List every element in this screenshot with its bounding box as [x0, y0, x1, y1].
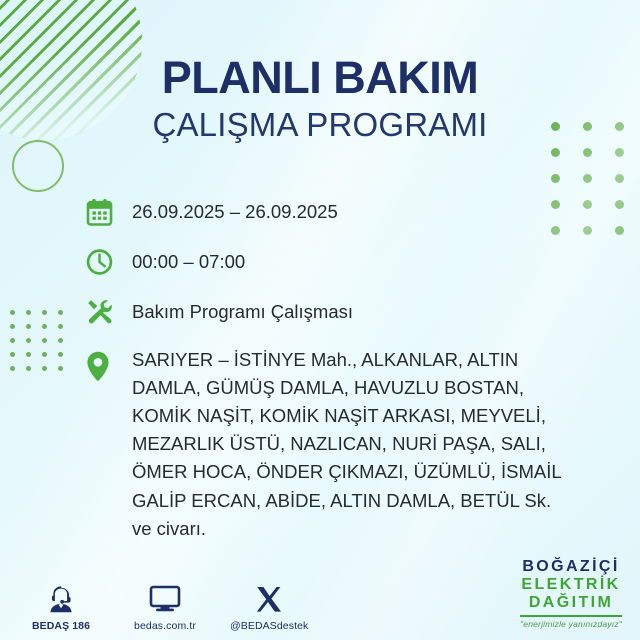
dot: [615, 174, 624, 183]
dot: [58, 310, 63, 315]
circle-outline-decoration: [12, 140, 64, 192]
tools-icon: [86, 296, 132, 332]
page-title: PLANLI BAKIM: [0, 54, 640, 102]
dot: [42, 338, 47, 343]
dot: [42, 366, 47, 371]
contact-label: BEDAŞ 186: [22, 620, 100, 632]
dot: [583, 174, 592, 183]
dot-grid-left-decoration: [10, 310, 74, 380]
contact-list: BEDAŞ 186 bedas.com.tr: [22, 583, 308, 632]
info-row-date: 26.09.2025 – 26.09.2025: [86, 196, 586, 232]
contact-website[interactable]: bedas.com.tr: [126, 583, 204, 632]
contact-label: bedas.com.tr: [126, 620, 204, 632]
dot: [615, 148, 624, 157]
calendar-icon: [86, 196, 132, 232]
brand-line-2: ELEKTRİK: [520, 577, 622, 593]
contact-call-center[interactable]: BEDAŞ 186: [22, 583, 100, 632]
time-range-text: 00:00 – 07:00: [132, 246, 245, 275]
info-row-time: 00:00 – 07:00: [86, 246, 586, 282]
dot: [551, 174, 560, 183]
dot: [10, 366, 15, 371]
location-text: SARIYER – İSTİNYE Mah., ALKANLAR, ALTIN …: [132, 346, 562, 543]
brand-line-1: BOĞAZİÇİ: [520, 559, 622, 575]
dot: [42, 352, 47, 357]
dot: [42, 324, 47, 329]
dot: [10, 352, 15, 357]
dot: [58, 352, 63, 357]
dot: [58, 366, 63, 371]
x-twitter-icon: [230, 583, 308, 615]
brand-tagline: "enerjimizle yanınızdayız": [520, 620, 622, 629]
dot: [26, 366, 31, 371]
support-agent-icon: [22, 583, 100, 615]
dot: [26, 324, 31, 329]
location-pin-icon: [86, 346, 132, 385]
dot: [615, 200, 624, 209]
work-type-text: Bakım Programı Çalışması: [132, 296, 353, 325]
dot: [551, 148, 560, 157]
dot: [615, 226, 624, 235]
dot: [10, 338, 15, 343]
dot: [26, 338, 31, 343]
info-row-work-type: Bakım Programı Çalışması: [86, 296, 586, 332]
poster-header: PLANLI BAKIM ÇALIŞMA PROGRAMI: [0, 54, 640, 144]
info-row-location: SARIYER – İSTİNYE Mah., ALKANLAR, ALTIN …: [86, 346, 586, 543]
dot: [26, 310, 31, 315]
contact-social-x[interactable]: @BEDASdestek: [230, 583, 308, 632]
poster-footer: BEDAŞ 186 bedas.com.tr: [0, 562, 640, 640]
dot: [42, 310, 47, 315]
bedas-logo: BOĞAZİÇİ ELEKTRİK DAĞITIM "enerjimizle y…: [520, 559, 622, 628]
clock-icon: [86, 246, 132, 282]
date-range-text: 26.09.2025 – 26.09.2025: [132, 196, 338, 225]
brand-line-3: DAĞITIM: [520, 595, 622, 611]
monitor-icon: [126, 583, 204, 615]
brand-divider: [520, 615, 622, 617]
dot: [26, 352, 31, 357]
info-list: 26.09.2025 – 26.09.2025 00:00 – 07:00: [86, 196, 586, 557]
dot: [58, 324, 63, 329]
planned-maintenance-poster: PLANLI BAKIM ÇALIŞMA PROGRAMI: [0, 0, 640, 640]
dot: [10, 310, 15, 315]
contact-label: @BEDASdestek: [230, 620, 308, 632]
dot: [583, 148, 592, 157]
dot: [10, 324, 15, 329]
page-subtitle: ÇALIŞMA PROGRAMI: [0, 106, 640, 144]
dot: [58, 338, 63, 343]
